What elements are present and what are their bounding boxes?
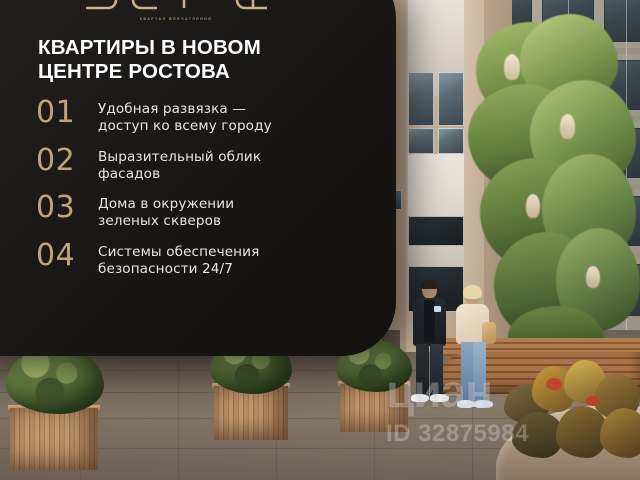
feature-number-02: 02	[36, 146, 98, 177]
feature-item-02: 02 Выразительный облик фасадов	[36, 146, 384, 183]
brand-logo: КВАРТАЛ ВПЕЧАТЛЕНИЙ	[56, 0, 296, 22]
feature-text-02-line-2: фасадов	[98, 166, 384, 183]
feature-number-03: 03	[36, 193, 98, 224]
feature-text-03: Дома в окружении зеленых скверов	[98, 193, 384, 230]
brand-tagline: КВАРТАЛ ВПЕЧАТЛЕНИЙ	[56, 18, 296, 22]
autumn-foliage	[502, 360, 640, 464]
headline: КВАРТИРЫ В НОВОМ ЦЕНТРЕ РОСТОВА	[38, 36, 368, 84]
person-woman	[452, 288, 498, 422]
feature-text-02-line-1: Выразительный облик	[98, 149, 261, 165]
feature-text-01-line-1: Удобная развязка —	[98, 101, 246, 117]
feature-item-03: 03 Дома в окружении зеленых скверов	[36, 193, 384, 230]
feature-text-01-line-2: доступ ко всему городу	[98, 118, 384, 135]
feature-number-01: 01	[36, 98, 98, 129]
person-man	[408, 282, 452, 420]
planter-box-2	[214, 386, 288, 440]
advertisement-banner: КВАРТАЛ ВПЕЧАТЛЕНИЙ КВАРТИРЫ В НОВОМ ЦЕН…	[0, 0, 640, 480]
feature-item-01: 01 Удобная развязка — доступ ко всему го…	[36, 98, 384, 135]
feature-text-02: Выразительный облик фасадов	[98, 146, 384, 183]
feature-text-04-line-2: безопасности 24/7	[98, 261, 384, 278]
feature-number-04: 04	[36, 241, 98, 272]
feature-text-01: Удобная развязка — доступ ко всему город…	[98, 98, 384, 135]
content-card: КВАРТАЛ ВПЕЧАТЛЕНИЙ КВАРТИРЫ В НОВОМ ЦЕН…	[0, 0, 396, 356]
feature-list: 01 Удобная развязка — доступ ко всему го…	[36, 98, 384, 289]
feature-text-03-line-1: Дома в окружении	[98, 196, 234, 212]
feature-text-04: Системы обеспечения безопасности 24/7	[98, 241, 384, 278]
headline-line-2: ЦЕНТРЕ РОСТОВА	[38, 60, 368, 84]
feature-text-04-line-1: Системы обеспечения	[98, 244, 259, 260]
headline-line-1: КВАРТИРЫ В НОВОМ	[38, 36, 261, 59]
feature-item-04: 04 Системы обеспечения безопасности 24/7	[36, 241, 384, 278]
estet-logotype-icon	[83, 0, 269, 14]
feature-text-03-line-2: зеленых скверов	[98, 213, 384, 230]
planter-box-1	[10, 408, 98, 470]
